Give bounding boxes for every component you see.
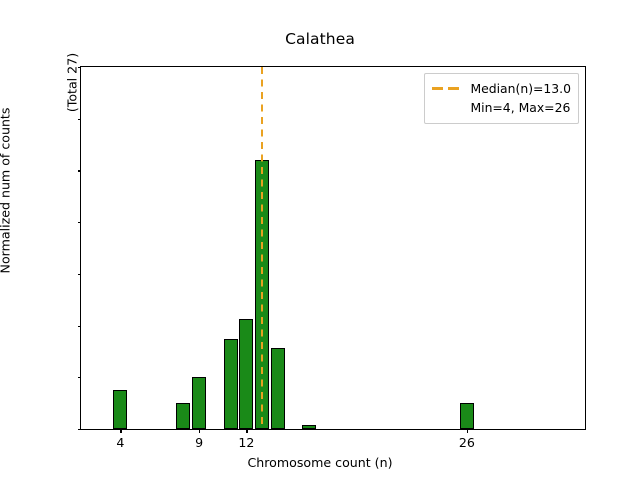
x-tick-label: 4: [90, 435, 150, 450]
x-tick-mark: [246, 429, 247, 433]
legend-label-median: Median(n)=13.0: [470, 81, 571, 96]
x-tick-mark: [120, 429, 121, 433]
median-line: [261, 67, 264, 429]
y-axis-total-label: (Total 27): [65, 23, 80, 143]
x-tick-label: 26: [437, 435, 497, 450]
legend-label-minmax: Min=4, Max=26: [470, 100, 570, 115]
y-tick-mark: [78, 429, 82, 430]
matplotlib-figure: Calathea Normalized num of counts (Total…: [0, 0, 640, 480]
plot-area: 02468101214 491226 Median(n)=13.0 Min=4,…: [80, 66, 586, 430]
legend-entry-minmax: Min=4, Max=26: [432, 98, 571, 117]
x-axis-label: Chromosome count (n): [0, 455, 640, 470]
x-tick-label: 12: [216, 435, 276, 450]
legend-entry-median: Median(n)=13.0: [432, 79, 571, 98]
dashed-line-icon: [432, 83, 462, 95]
chart-title: Calathea: [0, 30, 640, 48]
x-tick-mark: [199, 429, 200, 433]
y-axis-label: Normalized num of counts: [0, 0, 13, 411]
x-tick-mark: [467, 429, 468, 433]
legend: Median(n)=13.0 Min=4, Max=26: [424, 73, 579, 124]
